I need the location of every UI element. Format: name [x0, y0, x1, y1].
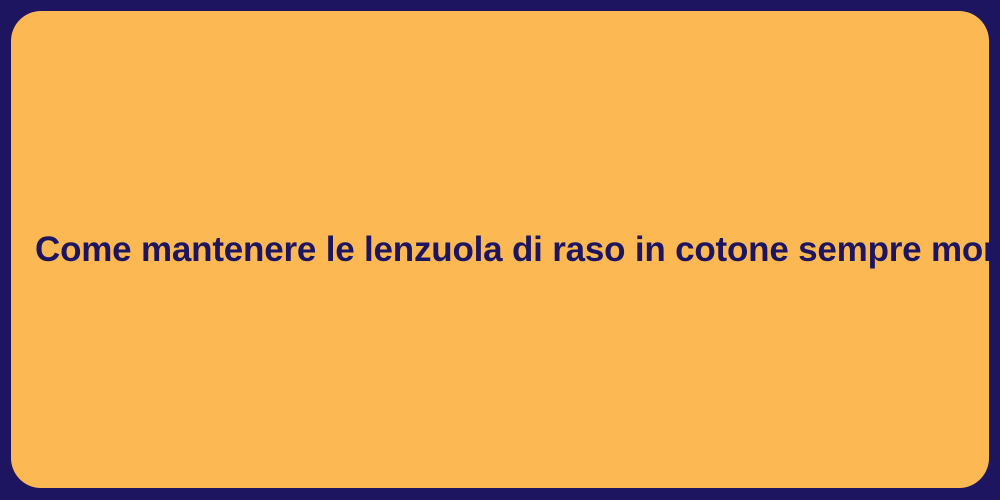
headline-text: Come mantenere le lenzuola di raso in co…	[35, 228, 1000, 272]
headline-card-panel: Come mantenere le lenzuola di raso in co…	[11, 11, 989, 488]
banner-root: Come mantenere le lenzuola di raso in co…	[0, 0, 1000, 500]
